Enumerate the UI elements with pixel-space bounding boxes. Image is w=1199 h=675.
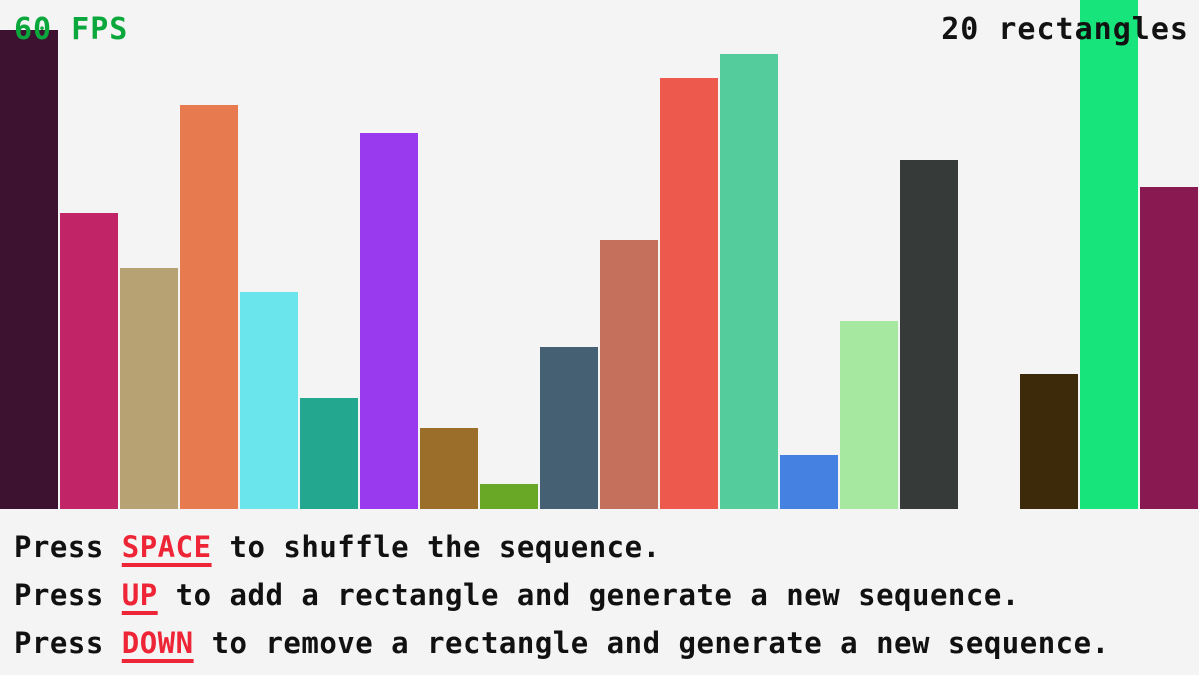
bar-rectangle xyxy=(300,398,358,509)
instruction-line-add: Press UP to add a rectangle and generate… xyxy=(14,571,1199,619)
key-space[interactable]: SPACE xyxy=(122,530,212,564)
bar-rectangle xyxy=(60,213,118,509)
fps-counter: 60 FPS xyxy=(14,12,128,47)
bar-rectangle xyxy=(720,54,778,509)
instruction-prefix: Press xyxy=(14,626,122,660)
bar-rectangle xyxy=(660,78,718,509)
bar-rectangle xyxy=(120,268,178,509)
rectangle-count-label: 20 rectangles xyxy=(941,12,1189,47)
instruction-line-shuffle: Press SPACE to shuffle the sequence. xyxy=(14,523,1199,571)
app-root: 60 FPS 20 rectangles Press SPACE to shuf… xyxy=(0,0,1199,675)
bar-rectangle xyxy=(480,484,538,509)
bar-rectangle xyxy=(1080,0,1138,509)
bar-chart-canvas[interactable] xyxy=(0,0,1199,509)
bar-rectangle xyxy=(840,321,898,509)
instruction-prefix: Press xyxy=(14,530,122,564)
instructions-panel: Press SPACE to shuffle the sequence. Pre… xyxy=(0,509,1199,675)
instruction-line-remove: Press DOWN to remove a rectangle and gen… xyxy=(14,619,1199,667)
bar-rectangle xyxy=(420,428,478,509)
bar-rectangle xyxy=(780,455,838,509)
bar-rectangle xyxy=(180,105,238,509)
key-up[interactable]: UP xyxy=(122,578,158,612)
bar-rectangle xyxy=(600,240,658,509)
bar-rectangle xyxy=(900,160,958,509)
bar-rectangle xyxy=(360,133,418,509)
bar-rectangle xyxy=(0,30,58,509)
bar-rectangle xyxy=(540,347,598,509)
instruction-suffix: to shuffle the sequence. xyxy=(212,530,661,564)
bar-rectangle xyxy=(1140,187,1198,509)
instruction-suffix: to add a rectangle and generate a new se… xyxy=(158,578,1020,612)
key-down[interactable]: DOWN xyxy=(122,626,194,660)
instruction-suffix: to remove a rectangle and generate a new… xyxy=(194,626,1110,660)
instruction-prefix: Press xyxy=(14,578,122,612)
bar-rectangle xyxy=(240,292,298,509)
bar-rectangle xyxy=(1020,374,1078,509)
